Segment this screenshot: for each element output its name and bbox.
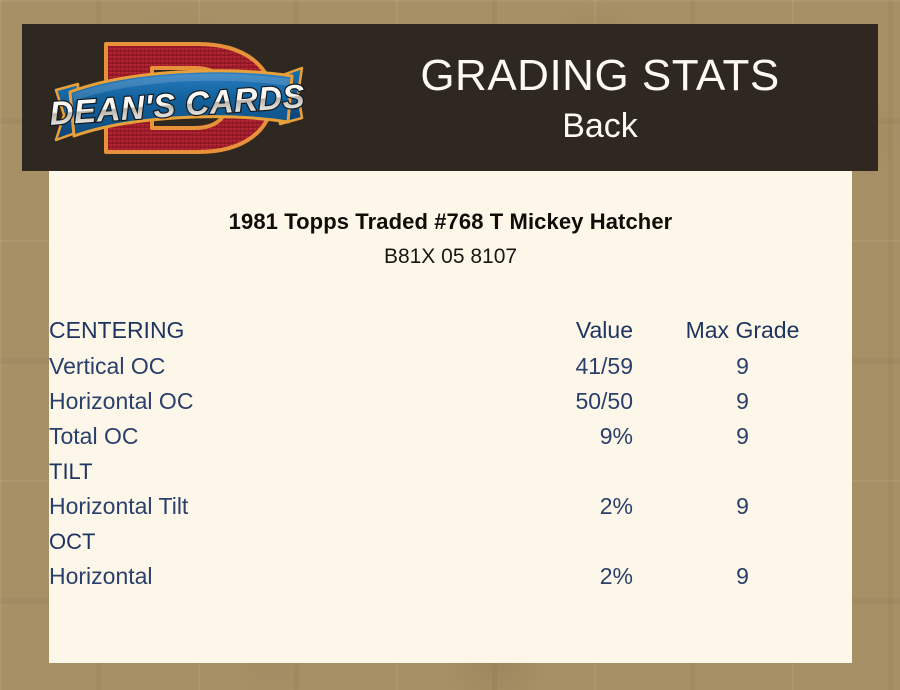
row-value: 2% [439, 559, 633, 594]
row-label: Vertical OC [49, 349, 439, 384]
row-value: 9% [439, 419, 633, 454]
row-max-grade: 9 [633, 559, 852, 594]
row-label: Horizontal Tilt [49, 489, 439, 524]
row-label: Horizontal [49, 559, 439, 594]
table-row: Vertical OC 41/59 9 [49, 349, 852, 384]
row-label: Horizontal OC [49, 384, 439, 419]
section-header-tilt: TILT [49, 454, 852, 489]
row-value: 2% [439, 489, 633, 524]
table-header-row: CENTERING Value Max Grade [49, 311, 852, 349]
row-max-grade: 9 [633, 489, 852, 524]
column-header-section: CENTERING [49, 311, 439, 349]
row-label: Total OC [49, 419, 439, 454]
column-header-value: Value [439, 311, 633, 349]
page-background: DEAN'S CARDS GRADING STATS Back 1981 Top… [0, 0, 900, 690]
table-row: Total OC 9% 9 [49, 419, 852, 454]
table-row: Horizontal Tilt 2% 9 [49, 489, 852, 524]
header-title-block: GRADING STATS Back [322, 24, 878, 171]
section-header-oct: OCT [49, 524, 852, 559]
table-row: Horizontal OC 50/50 9 [49, 384, 852, 419]
grading-stats-table: CENTERING Value Max Grade Vertical OC 41… [49, 311, 852, 594]
card-serial-number: B81X 05 8107 [49, 245, 852, 269]
deans-cards-logo[interactable]: DEAN'S CARDS [48, 32, 310, 164]
header-bar: DEAN'S CARDS GRADING STATS Back [22, 24, 878, 171]
table-row: Horizontal 2% 9 [49, 559, 852, 594]
section-title: OCT [49, 524, 852, 559]
section-title: TILT [49, 454, 852, 489]
row-max-grade: 9 [633, 419, 852, 454]
row-max-grade: 9 [633, 384, 852, 419]
row-value: 41/59 [439, 349, 633, 384]
row-value: 50/50 [439, 384, 633, 419]
column-header-max-grade: Max Grade [633, 311, 852, 349]
row-max-grade: 9 [633, 349, 852, 384]
grading-stats-body: CENTERING Value Max Grade Vertical OC 41… [49, 311, 852, 594]
page-title: GRADING STATS [420, 50, 779, 102]
page-subtitle: Back [562, 106, 638, 146]
card-title: 1981 Topps Traded #768 T Mickey Hatcher [49, 209, 852, 235]
logo-graphic: DEAN'S CARDS [48, 32, 310, 164]
content-panel: 1981 Topps Traded #768 T Mickey Hatcher … [49, 171, 852, 663]
